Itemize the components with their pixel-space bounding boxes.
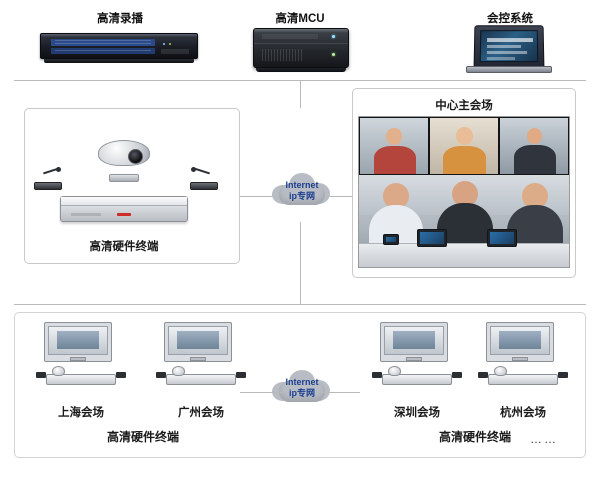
label-conference-control: 会控系统 <box>455 10 565 26</box>
connector-left-bottom <box>240 392 282 393</box>
diagram-canvas: 高清录播 高清MCU 会控系统 <box>0 0 600 477</box>
site-thumb-shanghai <box>36 322 126 394</box>
hd-codec-icon <box>60 196 188 222</box>
label-site-shanghai: 上海会场 <box>24 404 138 420</box>
mcu-chassis-icon <box>253 28 349 68</box>
cloud-text-line1: Internet <box>285 180 318 190</box>
separator-bottom <box>14 304 586 305</box>
label-hd-terminal-group-left: 高清硬件终端 <box>78 428 208 445</box>
venue-tile-1 <box>359 117 429 175</box>
venue-room-scene <box>359 175 569 268</box>
venue-tile-3 <box>499 117 569 175</box>
site-thumb-guangzhou <box>156 322 246 394</box>
site-thumb-hangzhou <box>478 322 568 394</box>
site-thumb-shenzhen <box>372 322 462 394</box>
laptop-icon <box>466 25 552 73</box>
mcu-shadow <box>256 68 346 72</box>
trunk-line-upper <box>300 80 301 108</box>
cloud-text-line2: ip专网 <box>289 191 315 201</box>
venue-tile-2 <box>429 117 499 175</box>
label-hd-terminal-left: 高清硬件终端 <box>62 238 186 254</box>
rack-server-shadow <box>44 59 194 63</box>
venue-monitor-1 <box>417 229 447 247</box>
rack-server-icon <box>40 33 198 59</box>
label-hd-terminal-group-right: 高清硬件终端 <box>410 428 540 445</box>
network-cloud-middle: Internet ip专网 <box>277 176 327 206</box>
label-hd-mcu: 高清MCU <box>245 10 355 26</box>
cloud-bottom-text-line1: Internet <box>285 377 318 387</box>
main-venue-photo <box>358 116 570 268</box>
venue-monitor-2 <box>487 229 517 247</box>
cloud-bottom-text-line2: ip专网 <box>289 388 315 398</box>
label-site-guangzhou: 广州会场 <box>144 404 258 420</box>
label-hd-recorder: 高清录播 <box>60 10 180 26</box>
network-cloud-bottom: Internet ip专网 <box>277 373 327 403</box>
label-site-shenzhen: 深圳会场 <box>360 404 474 420</box>
microphone-right-icon <box>190 168 218 190</box>
ptz-camera-icon <box>98 140 150 182</box>
label-site-hangzhou: 杭州会场 <box>466 404 580 420</box>
venue-tablet <box>383 234 399 245</box>
label-main-venue: 中心主会场 <box>392 97 536 113</box>
label-ellipsis: …… <box>530 432 558 446</box>
trunk-line-middle <box>300 222 301 304</box>
microphone-left-icon <box>34 168 62 190</box>
